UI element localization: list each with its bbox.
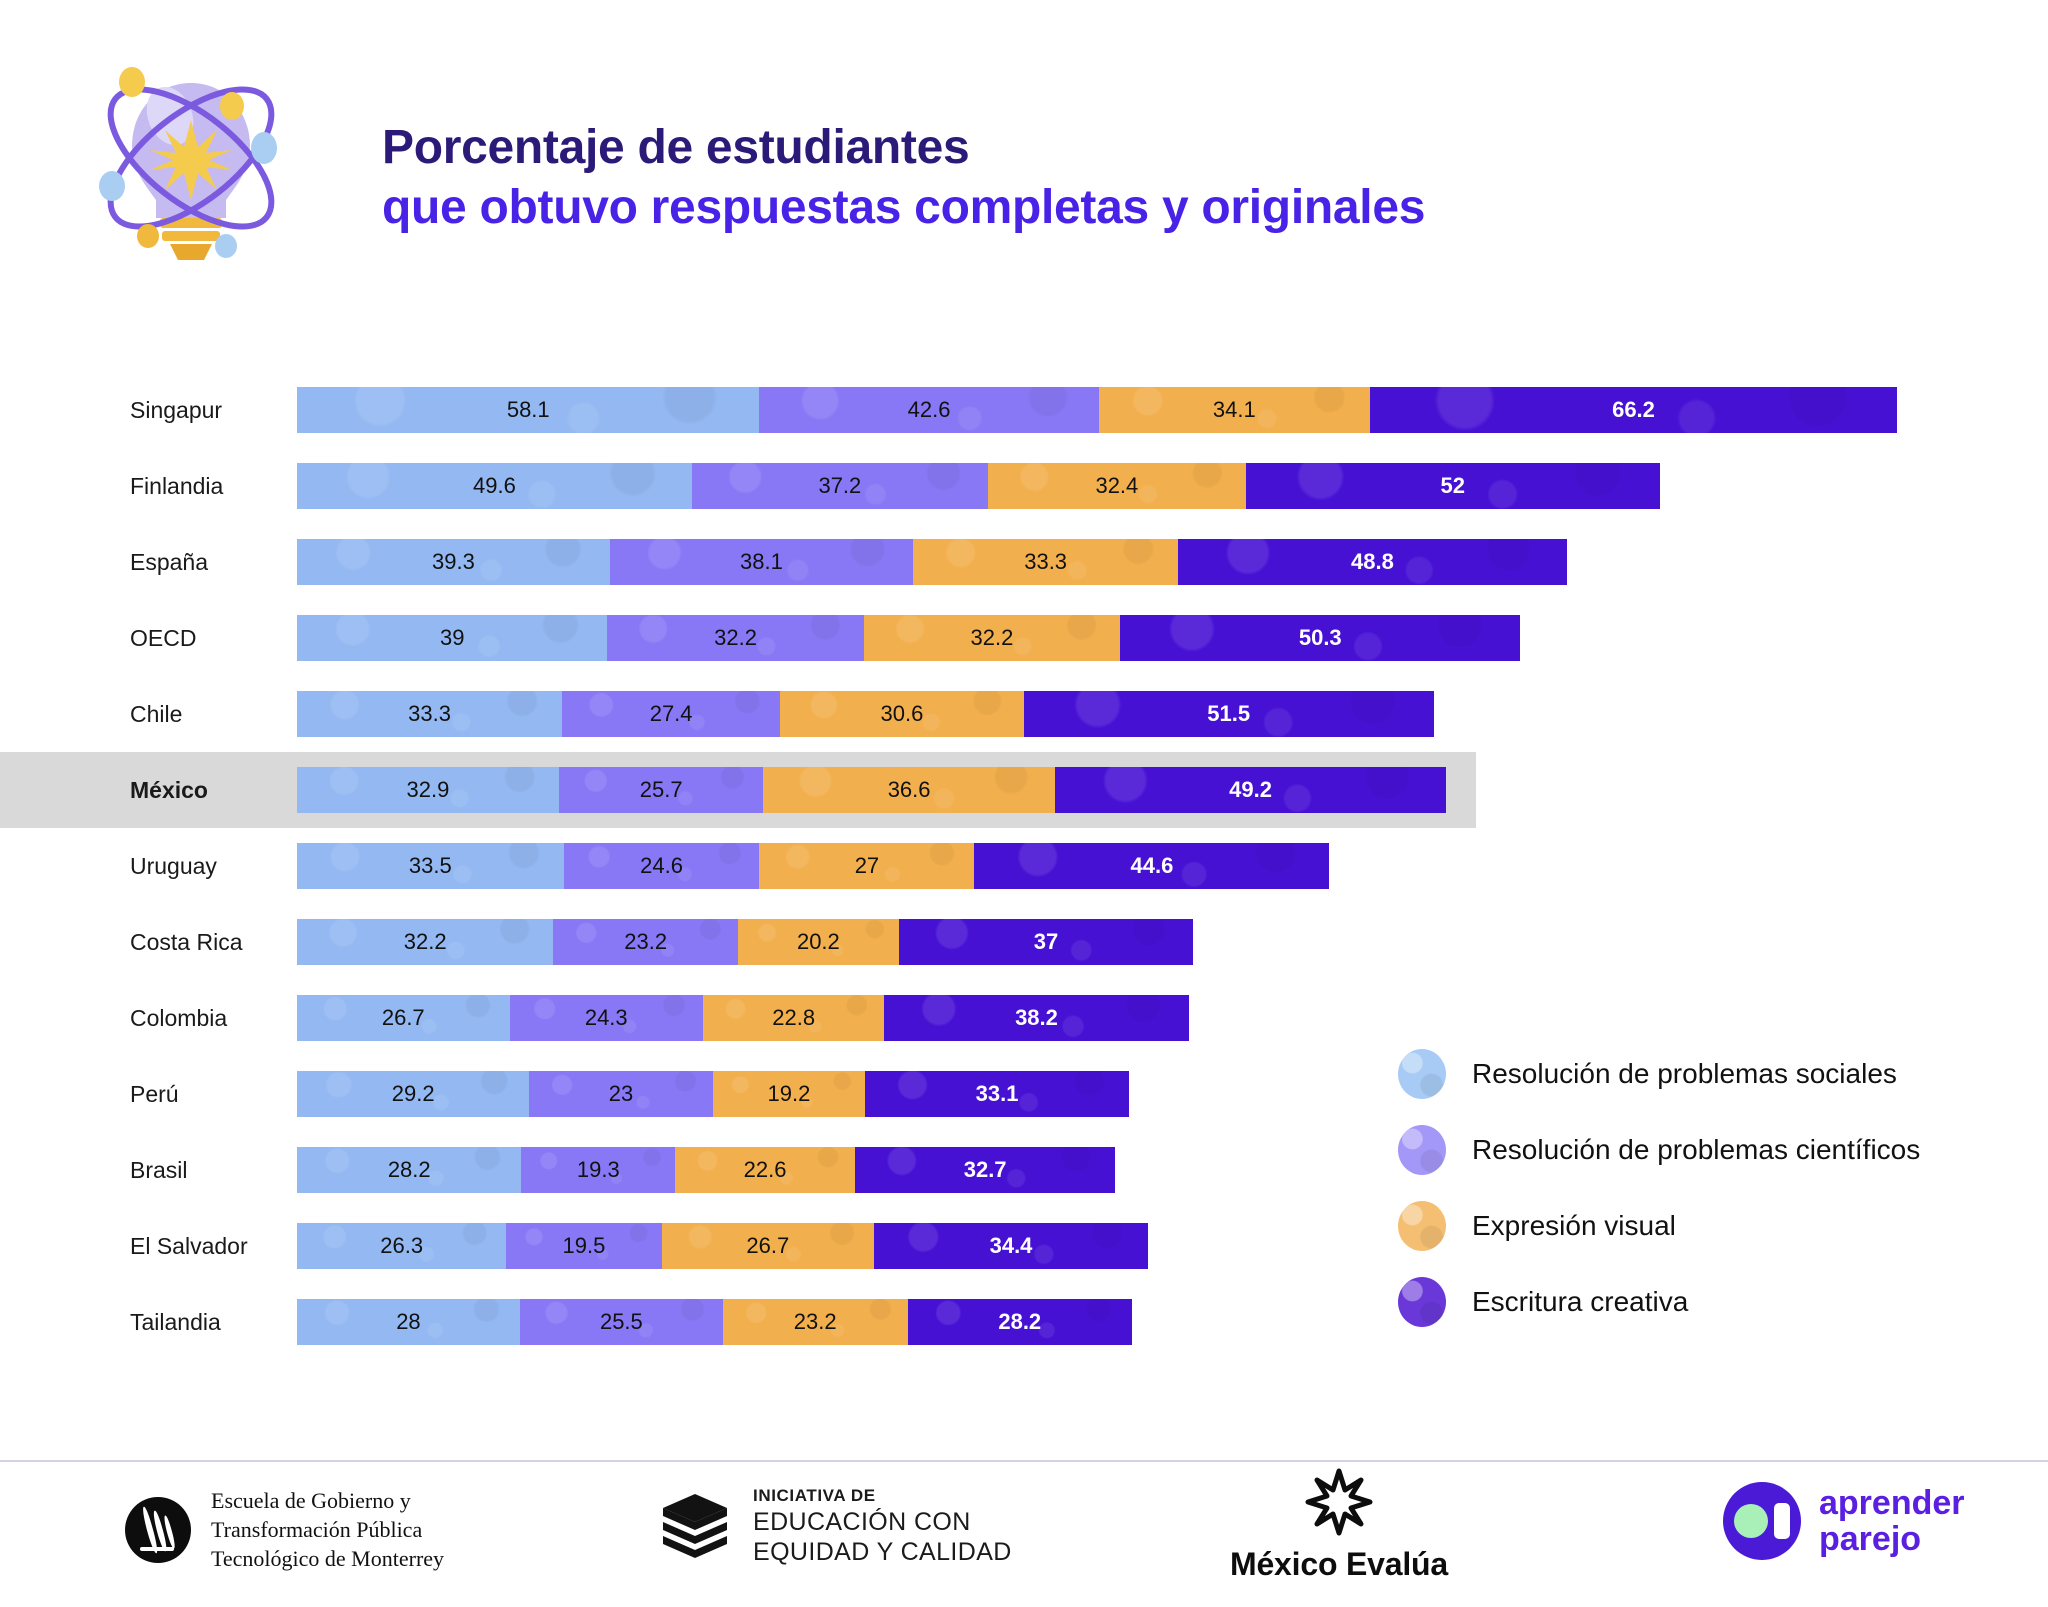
bar-segment-value: 34.4 — [990, 1233, 1033, 1259]
title-line-2: que obtuvo respuestas completas y origin… — [382, 178, 1425, 238]
bar-segment: 49.2 — [1055, 767, 1447, 813]
bar-segment: 37 — [899, 919, 1194, 965]
row-label: México — [0, 777, 268, 804]
bar-segment-value: 51.5 — [1207, 701, 1250, 727]
bar-segment-value: 39.3 — [432, 549, 475, 575]
eight-point-star-icon — [1305, 1468, 1373, 1536]
bar-segment-value: 19.2 — [768, 1081, 811, 1107]
bar-segment: 32.2 — [607, 615, 863, 661]
logo-tec-line2: Transformación Pública — [211, 1515, 444, 1544]
row-label: Chile — [0, 701, 268, 728]
bar-segment-value: 24.3 — [585, 1005, 628, 1031]
footer: Escuela de Gobierno y Transformación Púb… — [0, 1462, 2048, 1607]
bar-segment-value: 19.3 — [577, 1157, 620, 1183]
bar-segment: 33.1 — [865, 1071, 1128, 1117]
row-label: Singapur — [0, 397, 268, 424]
bar-segment-value: 39 — [440, 625, 464, 651]
bar-segment-value: 32.2 — [404, 929, 447, 955]
bar-segment: 38.1 — [610, 539, 913, 585]
legend-dot-scientific — [1398, 1125, 1446, 1175]
bar-segment: 22.8 — [703, 995, 884, 1041]
bar-segment-value: 36.6 — [888, 777, 931, 803]
legend-label: Resolución de problemas sociales — [1472, 1058, 1897, 1090]
chart-row: Chile33.327.430.651.5 — [0, 676, 2048, 752]
row-label: Costa Rica — [0, 929, 268, 956]
legend-label: Resolución de problemas científicos — [1472, 1134, 1920, 1166]
stacked-bar: 26.724.322.838.2 — [297, 995, 1189, 1041]
legend-item[interactable]: Resolución de problemas sociales — [1398, 1036, 2018, 1112]
logo-tec-line3: Tecnológico de Monterrey — [211, 1544, 444, 1573]
bar-segment-value: 23.2 — [624, 929, 667, 955]
row-label: Brasil — [0, 1157, 268, 1184]
logo-eec-line2: EDUCACIÓN CON — [753, 1507, 1012, 1538]
stacked-bar: 32.925.736.649.2 — [297, 767, 1446, 813]
logo-aprender-parejo: aprender parejo — [1723, 1482, 1965, 1560]
chart-row: Finlandia49.637.232.452 — [0, 448, 2048, 524]
row-label: Uruguay — [0, 853, 268, 880]
logo-iniciativa-eec: INICIATIVA DE EDUCACIÓN CON EQUIDAD Y CA… — [655, 1486, 1012, 1568]
bar-segment: 37.2 — [692, 463, 988, 509]
bar-segment-value: 25.7 — [640, 777, 683, 803]
bar-segment-value: 44.6 — [1130, 853, 1173, 879]
bar-segment-value: 20.2 — [797, 929, 840, 955]
bar-segment-value: 26.3 — [380, 1233, 423, 1259]
stacked-bar: 26.319.526.734.4 — [297, 1223, 1148, 1269]
chart-legend: Resolución de problemas socialesResoluci… — [1398, 1036, 2018, 1340]
legend-item[interactable]: Resolución de problemas científicos — [1398, 1112, 2018, 1188]
legend-dot-social — [1398, 1049, 1446, 1099]
bar-segment: 44.6 — [974, 843, 1329, 889]
legend-label: Escritura creativa — [1472, 1286, 1688, 1318]
logo-tec-de-monterrey: Escuela de Gobierno y Transformación Púb… — [125, 1486, 444, 1573]
legend-dot-writing — [1398, 1277, 1446, 1327]
bar-segment: 23 — [529, 1071, 712, 1117]
bar-segment: 48.8 — [1178, 539, 1566, 585]
logo-eec-text: INICIATIVA DE EDUCACIÓN CON EQUIDAD Y CA… — [753, 1486, 1012, 1568]
bar-segment-value: 33.5 — [409, 853, 452, 879]
bar-segment-value: 27 — [855, 853, 879, 879]
bar-segment-value: 37.2 — [818, 473, 861, 499]
stacked-bar: 28.219.322.632.7 — [297, 1147, 1115, 1193]
bar-segment-value: 28.2 — [388, 1157, 431, 1183]
bar-segment-value: 38.1 — [740, 549, 783, 575]
bar-segment-value: 50.3 — [1299, 625, 1342, 651]
bar-segment: 38.2 — [884, 995, 1188, 1041]
bar-segment-value: 49.2 — [1229, 777, 1272, 803]
chart-row: Costa Rica32.223.220.237 — [0, 904, 2048, 980]
chart-row-highlighted: México32.925.736.649.2 — [0, 752, 1476, 828]
bar-segment-value: 32.9 — [407, 777, 450, 803]
bar-segment-value: 30.6 — [881, 701, 924, 727]
bar-segment: 27.4 — [562, 691, 780, 737]
legend-dot-visual — [1398, 1201, 1446, 1251]
bar-segment-value: 52 — [1441, 473, 1465, 499]
stacked-bar: 58.142.634.166.2 — [297, 387, 1897, 433]
bar-segment-value: 26.7 — [382, 1005, 425, 1031]
stacked-bar: 3932.232.250.3 — [297, 615, 1520, 661]
bar-segment: 33.3 — [913, 539, 1178, 585]
bar-segment: 26.3 — [297, 1223, 506, 1269]
stacked-bar: 32.223.220.237 — [297, 919, 1193, 965]
bar-segment: 34.1 — [1099, 387, 1370, 433]
bar-segment-value: 29.2 — [392, 1081, 435, 1107]
bar-segment-value: 23 — [609, 1081, 633, 1107]
bar-segment: 39.3 — [297, 539, 610, 585]
bar-segment-value: 19.5 — [563, 1233, 606, 1259]
row-label: OECD — [0, 625, 268, 652]
bar-segment: 23.2 — [723, 1299, 908, 1345]
bar-segment-value: 38.2 — [1015, 1005, 1058, 1031]
bar-segment-value: 49.6 — [473, 473, 516, 499]
logo-aprender-parejo-text: aprender parejo — [1819, 1485, 1965, 1557]
bar-segment-value: 32.2 — [714, 625, 757, 651]
bar-segment-value: 23.2 — [794, 1309, 837, 1335]
legend-label: Expresión visual — [1472, 1210, 1676, 1242]
legend-item[interactable]: Expresión visual — [1398, 1188, 2018, 1264]
bar-segment-value: 48.8 — [1351, 549, 1394, 575]
bar-segment: 24.3 — [510, 995, 703, 1041]
logo-mexico-evalua: México Evalúa — [1230, 1468, 1448, 1583]
row-label: Perú — [0, 1081, 268, 1108]
bar-segment: 19.2 — [713, 1071, 866, 1117]
bar-segment-value: 58.1 — [507, 397, 550, 423]
page-title: Porcentaje de estudiantes que obtuvo res… — [382, 118, 1425, 239]
bar-segment-value: 25.5 — [600, 1309, 643, 1335]
legend-item[interactable]: Escritura creativa — [1398, 1264, 2018, 1340]
eec-chevron-icon — [655, 1492, 733, 1562]
bar-segment-value: 32.2 — [970, 625, 1013, 651]
bar-segment: 28.2 — [908, 1299, 1132, 1345]
bar-segment-value: 28.2 — [998, 1309, 1041, 1335]
bar-segment: 19.5 — [506, 1223, 661, 1269]
logo-eec-line1: INICIATIVA DE — [753, 1486, 1012, 1507]
chart-row: Singapur58.142.634.166.2 — [0, 372, 2048, 448]
stacked-bar: 33.327.430.651.5 — [297, 691, 1434, 737]
bar-segment: 33.5 — [297, 843, 564, 889]
logo-tec-line1: Escuela de Gobierno y — [211, 1486, 444, 1515]
aprender-parejo-circle-icon — [1723, 1482, 1801, 1560]
bar-segment: 27 — [759, 843, 974, 889]
bar-segment: 19.3 — [521, 1147, 675, 1193]
row-label: España — [0, 549, 268, 576]
tec-flame-circle-icon — [125, 1497, 191, 1563]
bar-segment-value: 32.7 — [964, 1157, 1007, 1183]
bar-segment-value: 66.2 — [1612, 397, 1655, 423]
bar-segment: 26.7 — [662, 1223, 875, 1269]
bar-segment-value: 28 — [396, 1309, 420, 1335]
logo-tec-text: Escuela de Gobierno y Transformación Púb… — [211, 1486, 444, 1573]
bar-segment: 20.2 — [738, 919, 899, 965]
bar-segment: 22.6 — [675, 1147, 855, 1193]
bar-segment: 28.2 — [297, 1147, 521, 1193]
bar-segment: 49.6 — [297, 463, 692, 509]
chart-row: OECD3932.232.250.3 — [0, 600, 2048, 676]
bar-segment-value: 37 — [1034, 929, 1058, 955]
bar-segment: 32.4 — [988, 463, 1246, 509]
bar-segment: 25.7 — [559, 767, 764, 813]
stacked-bar: 33.524.62744.6 — [297, 843, 1329, 889]
row-label: El Salvador — [0, 1233, 268, 1260]
stacked-bar: 49.637.232.452 — [297, 463, 1660, 509]
bar-segment: 32.7 — [855, 1147, 1115, 1193]
bar-segment-value: 33.1 — [976, 1081, 1019, 1107]
row-label: Finlandia — [0, 473, 268, 500]
bar-segment: 51.5 — [1024, 691, 1434, 737]
header: Porcentaje de estudiantes que obtuvo res… — [0, 0, 2048, 300]
bar-segment-value: 22.6 — [744, 1157, 787, 1183]
bar-segment-value: 42.6 — [908, 397, 951, 423]
logo-eec-line3: EQUIDAD Y CALIDAD — [753, 1537, 1012, 1568]
chart-row: España39.338.133.348.8 — [0, 524, 2048, 600]
logo-ap-line2: parejo — [1819, 1521, 1965, 1557]
bar-segment: 52 — [1246, 463, 1660, 509]
title-line-1: Porcentaje de estudiantes — [382, 118, 1425, 178]
stacked-bar: 2825.523.228.2 — [297, 1299, 1132, 1345]
bar-segment: 28 — [297, 1299, 520, 1345]
bar-segment: 32.2 — [864, 615, 1120, 661]
bar-segment: 66.2 — [1370, 387, 1897, 433]
bar-segment: 23.2 — [553, 919, 738, 965]
bar-segment: 26.7 — [297, 995, 510, 1041]
bar-segment: 42.6 — [759, 387, 1098, 433]
bar-segment: 39 — [297, 615, 607, 661]
bar-segment: 50.3 — [1120, 615, 1520, 661]
bar-segment-value: 34.1 — [1213, 397, 1256, 423]
bar-segment-value: 26.7 — [746, 1233, 789, 1259]
bar-segment: 33.3 — [297, 691, 562, 737]
bar-segment-value: 22.8 — [772, 1005, 815, 1031]
row-label: Colombia — [0, 1005, 268, 1032]
bar-segment-value: 33.3 — [1024, 549, 1067, 575]
bar-segment: 30.6 — [780, 691, 1024, 737]
row-label: Tailandia — [0, 1309, 268, 1336]
stacked-bar: 39.338.133.348.8 — [297, 539, 1567, 585]
logo-mexico-evalua-text: México Evalúa — [1230, 1546, 1448, 1583]
lightbulb-atom-icon — [86, 48, 296, 263]
bar-segment: 36.6 — [763, 767, 1054, 813]
bar-segment: 32.2 — [297, 919, 553, 965]
bar-segment: 24.6 — [564, 843, 760, 889]
bar-segment-value: 27.4 — [650, 701, 693, 727]
bar-segment: 34.4 — [874, 1223, 1148, 1269]
chart-row: Uruguay33.524.62744.6 — [0, 828, 2048, 904]
bar-segment-value: 24.6 — [640, 853, 683, 879]
stacked-bar: 29.22319.233.1 — [297, 1071, 1129, 1117]
logo-ap-line1: aprender — [1819, 1485, 1965, 1521]
bar-segment: 58.1 — [297, 387, 759, 433]
bar-segment: 32.9 — [297, 767, 559, 813]
bar-segment-value: 33.3 — [408, 701, 451, 727]
bar-segment: 25.5 — [520, 1299, 723, 1345]
bar-segment: 29.2 — [297, 1071, 529, 1117]
bar-segment-value: 32.4 — [1095, 473, 1138, 499]
